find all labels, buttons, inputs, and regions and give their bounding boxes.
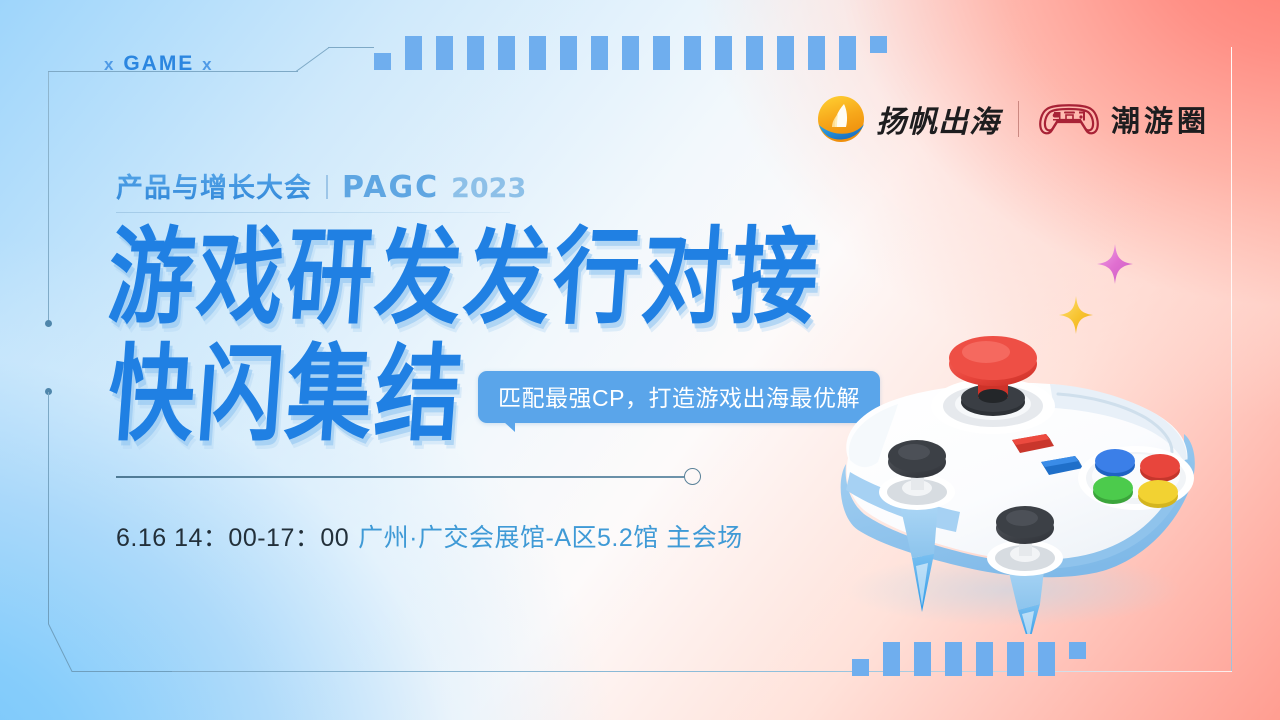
subtitle-chinese: 产品与增长大会 <box>116 166 312 205</box>
frame-bottom-left-corner <box>48 572 172 672</box>
subtitle-separator <box>326 175 328 199</box>
checkerboard-top <box>374 34 896 72</box>
face-button-red <box>1140 454 1180 482</box>
subtitle-year: 2023 <box>451 173 526 204</box>
game-label-suffix: x <box>202 55 213 74</box>
info-divider-line <box>116 476 684 478</box>
face-button-green <box>1093 476 1133 504</box>
event-datetime: 6.16 14：00-17：00 <box>116 518 349 554</box>
face-button-blue <box>1095 449 1135 477</box>
logo-yangfanchuhai-text: 扬帆出海 <box>876 97 1000 141</box>
sail-circle-icon <box>817 95 865 143</box>
checkerboard-bottom <box>852 640 1102 678</box>
frame-top-right-line <box>328 47 374 48</box>
subtitle-row: 产品与增长大会 PAGC 2023 <box>116 166 526 205</box>
game-corner-label: x GAME x <box>104 52 214 76</box>
frame-right-line <box>1231 47 1232 672</box>
gamepad-illustration <box>788 322 1220 634</box>
logo-divider <box>1018 101 1019 137</box>
frame-left-line-lower <box>48 392 49 588</box>
frame-left-line <box>48 72 49 324</box>
gamepad-outline-icon <box>1037 99 1101 139</box>
event-venue: 广州·广交会展馆-A区5.2馆 主会场 <box>358 518 743 554</box>
banner-canvas: x GAME x <box>0 0 1280 720</box>
face-button-cluster <box>1078 446 1194 510</box>
sparkle-pink-icon <box>1097 244 1133 284</box>
event-info: 6.16 14：00-17：00 广州·广交会展馆-A区5.2馆 主会场 <box>116 518 743 554</box>
frame-dot-upper <box>45 320 52 327</box>
game-label-text: GAME <box>123 52 194 75</box>
info-divider-end-circle <box>684 468 701 485</box>
logo-yangfanchuhai[interactable]: 扬帆出海 <box>817 95 1000 143</box>
logo-chaoyouquan[interactable]: 潮游圈 <box>1037 98 1210 140</box>
logo-bar: 扬帆出海 潮游圈 <box>817 95 1210 143</box>
game-label-prefix: x <box>104 55 115 74</box>
subtitle-underline <box>116 212 510 213</box>
face-button-yellow <box>1138 480 1178 508</box>
frame-top-diagonal <box>296 47 330 72</box>
subtitle-english: PAGC <box>342 170 439 205</box>
logo-chaoyouquan-text: 潮游圈 <box>1111 98 1210 140</box>
headline-line-1: 游戏研发发行对接 <box>105 228 824 329</box>
